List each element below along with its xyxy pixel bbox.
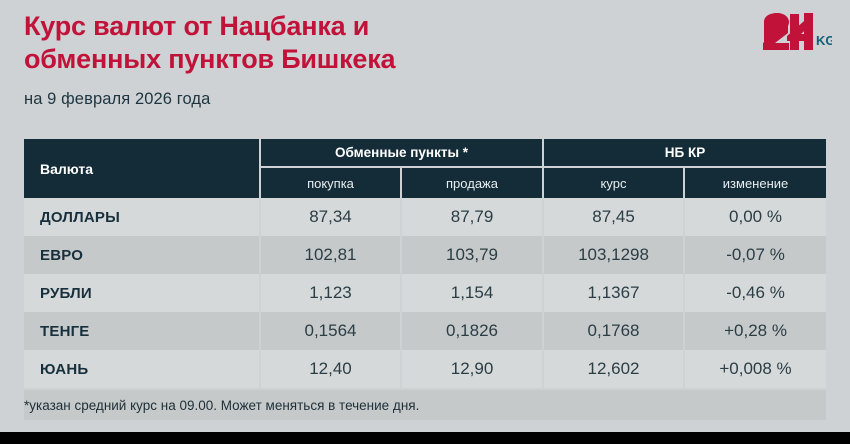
cell-sell: 87,79: [401, 198, 543, 236]
column-group-header-exchange-points: Обменные пункты *: [260, 139, 543, 167]
cell-currency-name: ЕВРО: [24, 236, 260, 274]
cell-change: +0,008 %: [684, 350, 826, 389]
cell-sell: 1,154: [401, 274, 543, 312]
cell-buy: 102,81: [260, 236, 401, 274]
cell-rate: 103,1298: [543, 236, 684, 274]
brand-logo-24kg: KG: [760, 12, 832, 54]
cell-buy: 1,123: [260, 274, 401, 312]
cell-change: -0,07 %: [684, 236, 826, 274]
table-body: ДОЛЛАРЫ 87,34 87,79 87,45 0,00 % ЕВРО 10…: [24, 198, 826, 420]
cell-sell: 103,79: [401, 236, 543, 274]
table-header-group-row: Валюта Обменные пункты * НБ КР: [24, 139, 826, 167]
cell-rate: 0,1768: [543, 312, 684, 350]
cell-buy: 87,34: [260, 198, 401, 236]
cell-rate: 12,602: [543, 350, 684, 389]
table-row: ЮАНЬ 12,40 12,90 12,602 +0,008 %: [24, 350, 826, 389]
table-row: ЕВРО 102,81 103,79 103,1298 -0,07 %: [24, 236, 826, 274]
table-footnote-row: *указан средний курс на 09.00. Может мен…: [24, 389, 826, 420]
cell-currency-name: ЮАНЬ: [24, 350, 260, 389]
header-block: Курс валют от Нацбанка и обменных пункто…: [24, 10, 764, 109]
cell-change: -0,46 %: [684, 274, 826, 312]
table-row: РУБЛИ 1,123 1,154 1,1367 -0,46 %: [24, 274, 826, 312]
cell-rate: 87,45: [543, 198, 684, 236]
column-header-change: изменение: [684, 167, 826, 198]
column-header-sell: продажа: [401, 167, 543, 198]
bottom-bar: [0, 432, 850, 444]
cell-sell: 12,90: [401, 350, 543, 389]
column-header-buy: покупка: [260, 167, 401, 198]
cell-buy: 12,40: [260, 350, 401, 389]
page-subtitle: на 9 февраля 2026 года: [24, 75, 764, 109]
cell-rate: 1,1367: [543, 274, 684, 312]
logo-24kg-icon: KG: [760, 12, 832, 54]
table-row: ДОЛЛАРЫ 87,34 87,79 87,45 0,00 %: [24, 198, 826, 236]
table-header: Валюта Обменные пункты * НБ КР покупка п…: [24, 139, 826, 198]
cell-change: +0,28 %: [684, 312, 826, 350]
cell-buy: 0,1564: [260, 312, 401, 350]
column-header-currency: Валюта: [24, 139, 260, 198]
currency-rates-card: Курс валют от Нацбанка и обменных пункто…: [0, 0, 850, 444]
cell-sell: 0,1826: [401, 312, 543, 350]
logo-kg-text: KG: [816, 33, 832, 48]
cell-currency-name: ТЕНГЕ: [24, 312, 260, 350]
table-footnote: *указан средний курс на 09.00. Может мен…: [24, 389, 826, 420]
cell-change: 0,00 %: [684, 198, 826, 236]
currency-rates-table: Валюта Обменные пункты * НБ КР покупка п…: [24, 139, 826, 420]
page-title: Курс валют от Нацбанка и обменных пункто…: [24, 10, 764, 75]
cell-currency-name: ДОЛЛАРЫ: [24, 198, 260, 236]
column-group-header-national-bank: НБ КР: [543, 139, 826, 167]
table-row: ТЕНГЕ 0,1564 0,1826 0,1768 +0,28 %: [24, 312, 826, 350]
cell-currency-name: РУБЛИ: [24, 274, 260, 312]
column-header-rate: курс: [543, 167, 684, 198]
